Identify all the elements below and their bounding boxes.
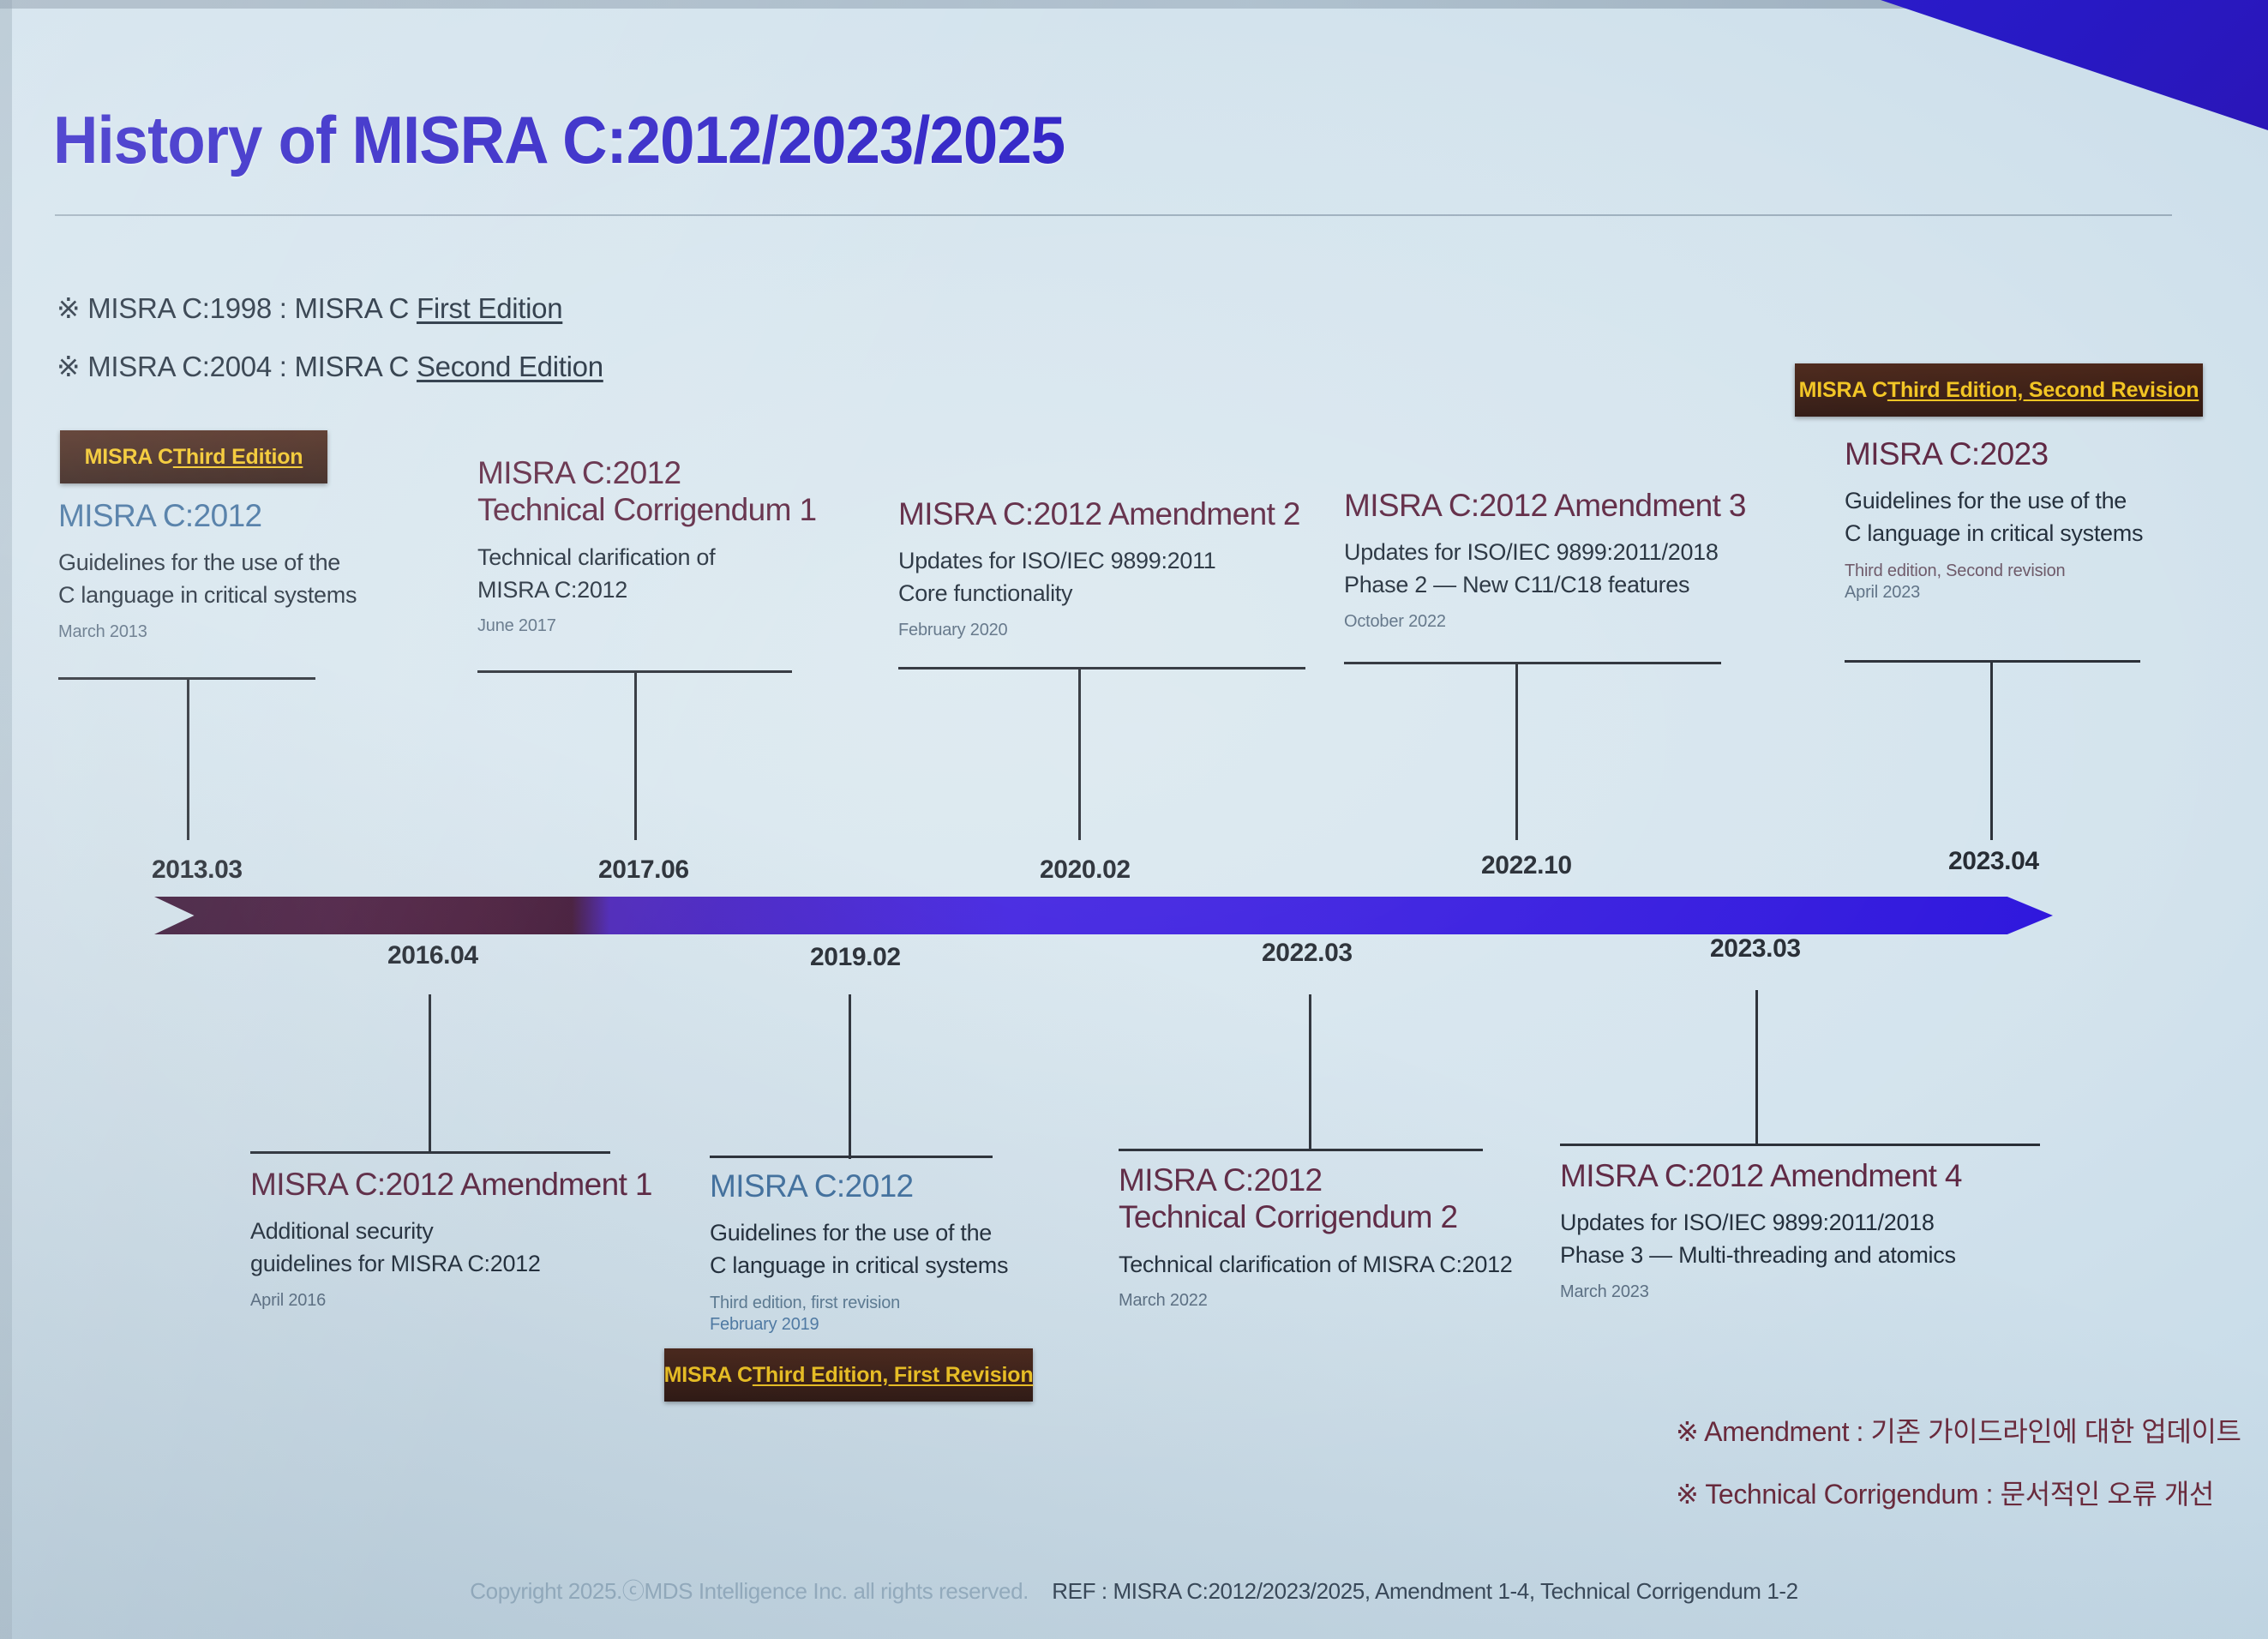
connector-hline-2019-02 bbox=[710, 1156, 993, 1158]
event-card-2017-06: MISRA C:2012 Technical Corrigendum 1 Tec… bbox=[477, 454, 816, 636]
slide-left-edge bbox=[0, 0, 12, 1639]
card-desc-line1: Guidelines for the use of the bbox=[710, 1217, 1008, 1248]
card-desc-line1: Guidelines for the use of the bbox=[1845, 485, 2143, 516]
date-label-2022-10: 2022.10 bbox=[1481, 851, 1572, 880]
badge-emphasis: Third Edition bbox=[173, 445, 303, 470]
date-label-2019-02: 2019.02 bbox=[810, 943, 901, 972]
card-desc-line1: Additional security bbox=[250, 1216, 652, 1246]
event-card-2019-02: MISRA C:2012 Guidelines for the use of t… bbox=[710, 1168, 1008, 1335]
card-title: MISRA C:2012 Amendment 4 bbox=[1560, 1157, 1962, 1194]
card-date: February 2019 bbox=[710, 1315, 1008, 1335]
badge-third-edition-second-revision: MISRA C Third Edition, Second Revision bbox=[1795, 363, 2203, 417]
card-title-line2: Technical Corrigendum 1 bbox=[477, 491, 816, 528]
card-desc-line2: C language in critical systems bbox=[710, 1250, 1008, 1281]
connector-hline-2020-02 bbox=[898, 667, 1305, 669]
slide-canvas: History of MISRA C:2012/2023/2025 ※ MISR… bbox=[0, 0, 2268, 1639]
card-date: March 2022 bbox=[1119, 1291, 1513, 1311]
note-misra-1998: ※ MISRA C:1998 : MISRA C First Edition bbox=[57, 291, 562, 325]
card-date: March 2023 bbox=[1560, 1282, 1962, 1302]
card-desc-line2: C language in critical systems bbox=[58, 579, 357, 610]
connector-hline-2023-03 bbox=[1560, 1144, 2040, 1146]
event-card-2023-03: MISRA C:2012 Amendment 4 Updates for ISO… bbox=[1560, 1157, 1962, 1302]
date-label-2023-04: 2023.04 bbox=[1948, 847, 2039, 876]
date-label-2016-04: 2016.04 bbox=[387, 941, 478, 970]
timeline-arrow bbox=[154, 897, 2053, 934]
note-misra-2004: ※ MISRA C:2004 : MISRA C Second Edition bbox=[57, 350, 603, 383]
footer-reference: REF : MISRA C:2012/2023/2025, Amendment … bbox=[1052, 1578, 1797, 1604]
card-title: MISRA C:2012 bbox=[710, 1168, 1008, 1204]
page-title: History of MISRA C:2012/2023/2025 bbox=[53, 101, 1065, 179]
card-desc-line2: Phase 2 — New C11/C18 features bbox=[1344, 569, 1746, 600]
badge-emphasis: Third Edition, First Revision bbox=[753, 1363, 1034, 1388]
card-title: MISRA C:2012 bbox=[58, 497, 357, 534]
event-card-2022-10: MISRA C:2012 Amendment 3 Updates for ISO… bbox=[1344, 487, 1746, 632]
card-desc-line1: Technical clarification of bbox=[477, 542, 816, 573]
note-emphasis: Second Edition bbox=[417, 351, 603, 382]
note-emphasis: First Edition bbox=[417, 292, 562, 324]
badge-emphasis: Third Edition, Second Revision bbox=[1887, 378, 2199, 403]
note-prefix: ※ MISRA C:1998 : MISRA C bbox=[57, 292, 417, 324]
card-desc-line2: MISRA C:2012 bbox=[477, 574, 816, 605]
connector-vline-2019-02 bbox=[849, 994, 851, 1159]
date-label-2013-03: 2013.03 bbox=[152, 856, 243, 885]
card-date: February 2020 bbox=[898, 621, 1300, 640]
card-title: MISRA C:2012 Amendment 3 bbox=[1344, 487, 1746, 524]
event-card-2016-04: MISRA C:2012 Amendment 1 Additional secu… bbox=[250, 1166, 652, 1311]
card-date: October 2022 bbox=[1344, 612, 1746, 632]
card-desc-line1: Updates for ISO/IEC 9899:2011 bbox=[898, 545, 1300, 576]
event-card-2023-04: MISRA C:2023 Guidelines for the use of t… bbox=[1845, 435, 2143, 603]
card-date: April 2023 bbox=[1845, 583, 2143, 603]
card-desc-line2: C language in critical systems bbox=[1845, 518, 2143, 549]
connector-hline-2022-03 bbox=[1119, 1149, 1483, 1151]
date-label-2020-02: 2020.02 bbox=[1040, 856, 1131, 885]
event-card-2020-02: MISRA C:2012 Amendment 2 Updates for ISO… bbox=[898, 495, 1300, 640]
card-title: MISRA C:2012 Amendment 2 bbox=[898, 495, 1300, 532]
card-desc-line1: Updates for ISO/IEC 9899:2011/2018 bbox=[1560, 1207, 1962, 1238]
badge-prefix: MISRA C bbox=[85, 445, 173, 470]
event-card-2022-03: MISRA C:2012 Technical Corrigendum 2 Tec… bbox=[1119, 1162, 1513, 1311]
event-card-2013-03: MISRA C:2012 Guidelines for the use of t… bbox=[58, 497, 357, 642]
connector-vline-2023-04 bbox=[1990, 660, 1993, 840]
connector-vline-2013-03 bbox=[187, 677, 189, 840]
card-title: MISRA C:2012 bbox=[477, 454, 816, 491]
connector-hline-2022-10 bbox=[1344, 662, 1721, 664]
connector-hline-2016-04 bbox=[250, 1151, 610, 1154]
badge-prefix: MISRA C bbox=[664, 1363, 753, 1388]
card-title-line2: Technical Corrigendum 2 bbox=[1119, 1198, 1513, 1235]
corner-triangle-decoration bbox=[1881, 0, 2268, 130]
date-label-2017-06: 2017.06 bbox=[598, 856, 689, 885]
title-divider bbox=[55, 214, 2172, 216]
card-date: March 2013 bbox=[58, 622, 357, 642]
card-revision: Third edition, Second revision bbox=[1845, 561, 2143, 581]
connector-vline-2017-06 bbox=[634, 670, 637, 840]
card-desc-line1: Guidelines for the use of the bbox=[58, 547, 357, 578]
badge-third-edition-first-revision: MISRA C Third Edition, First Revision bbox=[664, 1348, 1033, 1402]
card-desc-line2: Phase 3 — Multi-threading and atomics bbox=[1560, 1240, 1962, 1270]
date-label-2022-03: 2022.03 bbox=[1262, 939, 1353, 968]
footer-copyright: Copyright 2025.ⓒMDS Intelligence Inc. al… bbox=[470, 1578, 1029, 1604]
connector-vline-2023-03 bbox=[1755, 990, 1758, 1144]
connector-vline-2020-02 bbox=[1078, 667, 1081, 840]
card-date: April 2016 bbox=[250, 1291, 652, 1311]
connector-vline-2022-03 bbox=[1309, 994, 1311, 1150]
card-date: June 2017 bbox=[477, 616, 816, 636]
connector-vline-2022-10 bbox=[1515, 662, 1518, 840]
card-desc-line1: Technical clarification of MISRA C:2012 bbox=[1119, 1249, 1513, 1280]
card-title: MISRA C:2012 Amendment 1 bbox=[250, 1166, 652, 1203]
slide-vignette-overlay bbox=[0, 0, 2268, 1639]
date-label-2023-03: 2023.03 bbox=[1710, 934, 1801, 964]
legend-amendment: ※ Amendment : 기존 가이드라인에 대한 업데이트 bbox=[1676, 1410, 2241, 1450]
card-title: MISRA C:2012 bbox=[1119, 1162, 1513, 1198]
card-desc-line1: Updates for ISO/IEC 9899:2011/2018 bbox=[1344, 537, 1746, 567]
card-title: MISRA C:2023 bbox=[1845, 435, 2143, 472]
note-prefix: ※ MISRA C:2004 : MISRA C bbox=[57, 351, 417, 382]
badge-prefix: MISRA C bbox=[1799, 378, 1887, 403]
footer: Copyright 2025.ⓒMDS Intelligence Inc. al… bbox=[0, 1574, 2268, 1606]
card-desc-line2: guidelines for MISRA C:2012 bbox=[250, 1248, 652, 1279]
connector-vline-2016-04 bbox=[429, 994, 431, 1154]
card-desc-line2: Core functionality bbox=[898, 578, 1300, 609]
legend-technical-corrigendum: ※ Technical Corrigendum : 문서적인 오류 개선 bbox=[1676, 1473, 2214, 1512]
card-revision: Third edition, first revision bbox=[710, 1294, 1008, 1313]
badge-third-edition: MISRA C Third Edition bbox=[60, 430, 327, 483]
